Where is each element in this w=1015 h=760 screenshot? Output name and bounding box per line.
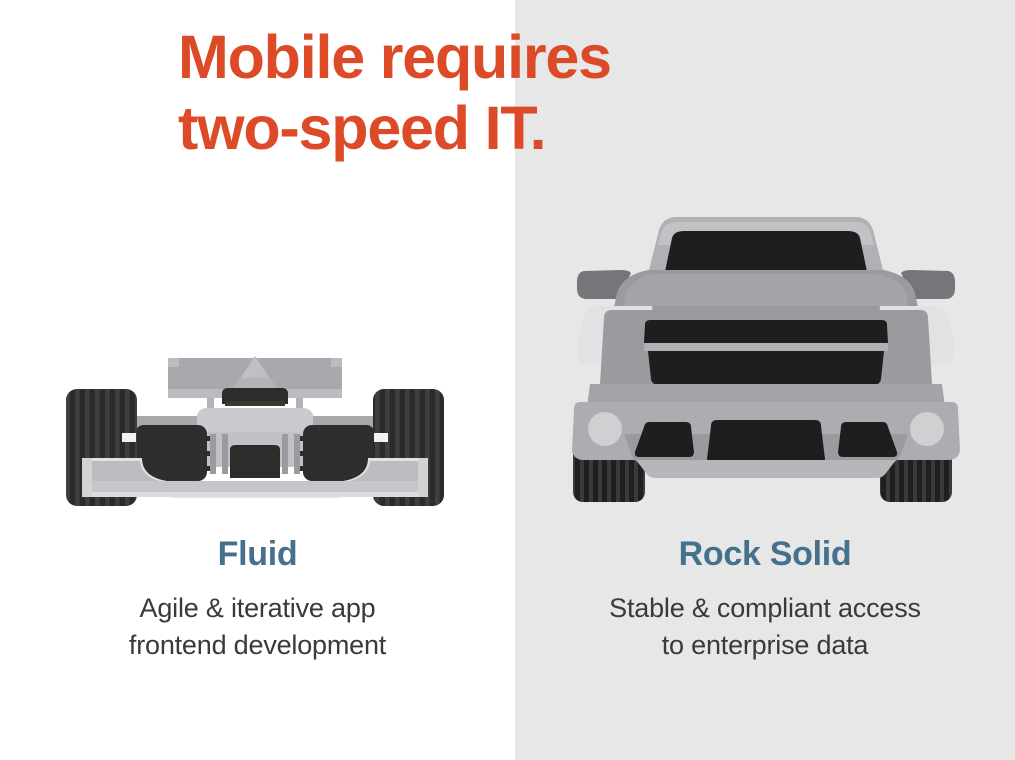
left-canard [122,433,136,442]
suv-truck-icon [562,198,970,518]
column-rock-solid-title: Rock Solid [527,536,1003,573]
column-rock-solid-body: Stable & compliant access to enterprise … [527,590,1003,663]
column-fluid-body: Agile & iterative app frontend developme… [25,590,490,663]
cockpit-helmet [222,388,288,406]
front-air-intake [230,445,280,478]
column-fluid: Fluid Agile & iterative app frontend dev… [25,536,490,664]
column-rock-solid: Rock Solid Stable & compliant access to … [527,536,1003,664]
right-canard [374,433,388,442]
column-fluid-title: Fluid [25,536,490,573]
lower-valance [636,460,896,478]
race-car-icon [55,348,455,528]
slide-canvas: Mobile requires two-speed IT. [0,0,1015,760]
page-title: Mobile requires two-speed IT. [178,22,898,164]
grille-chrome-bar [644,343,888,351]
grille-upper [644,320,888,343]
grille-lower [648,351,884,385]
